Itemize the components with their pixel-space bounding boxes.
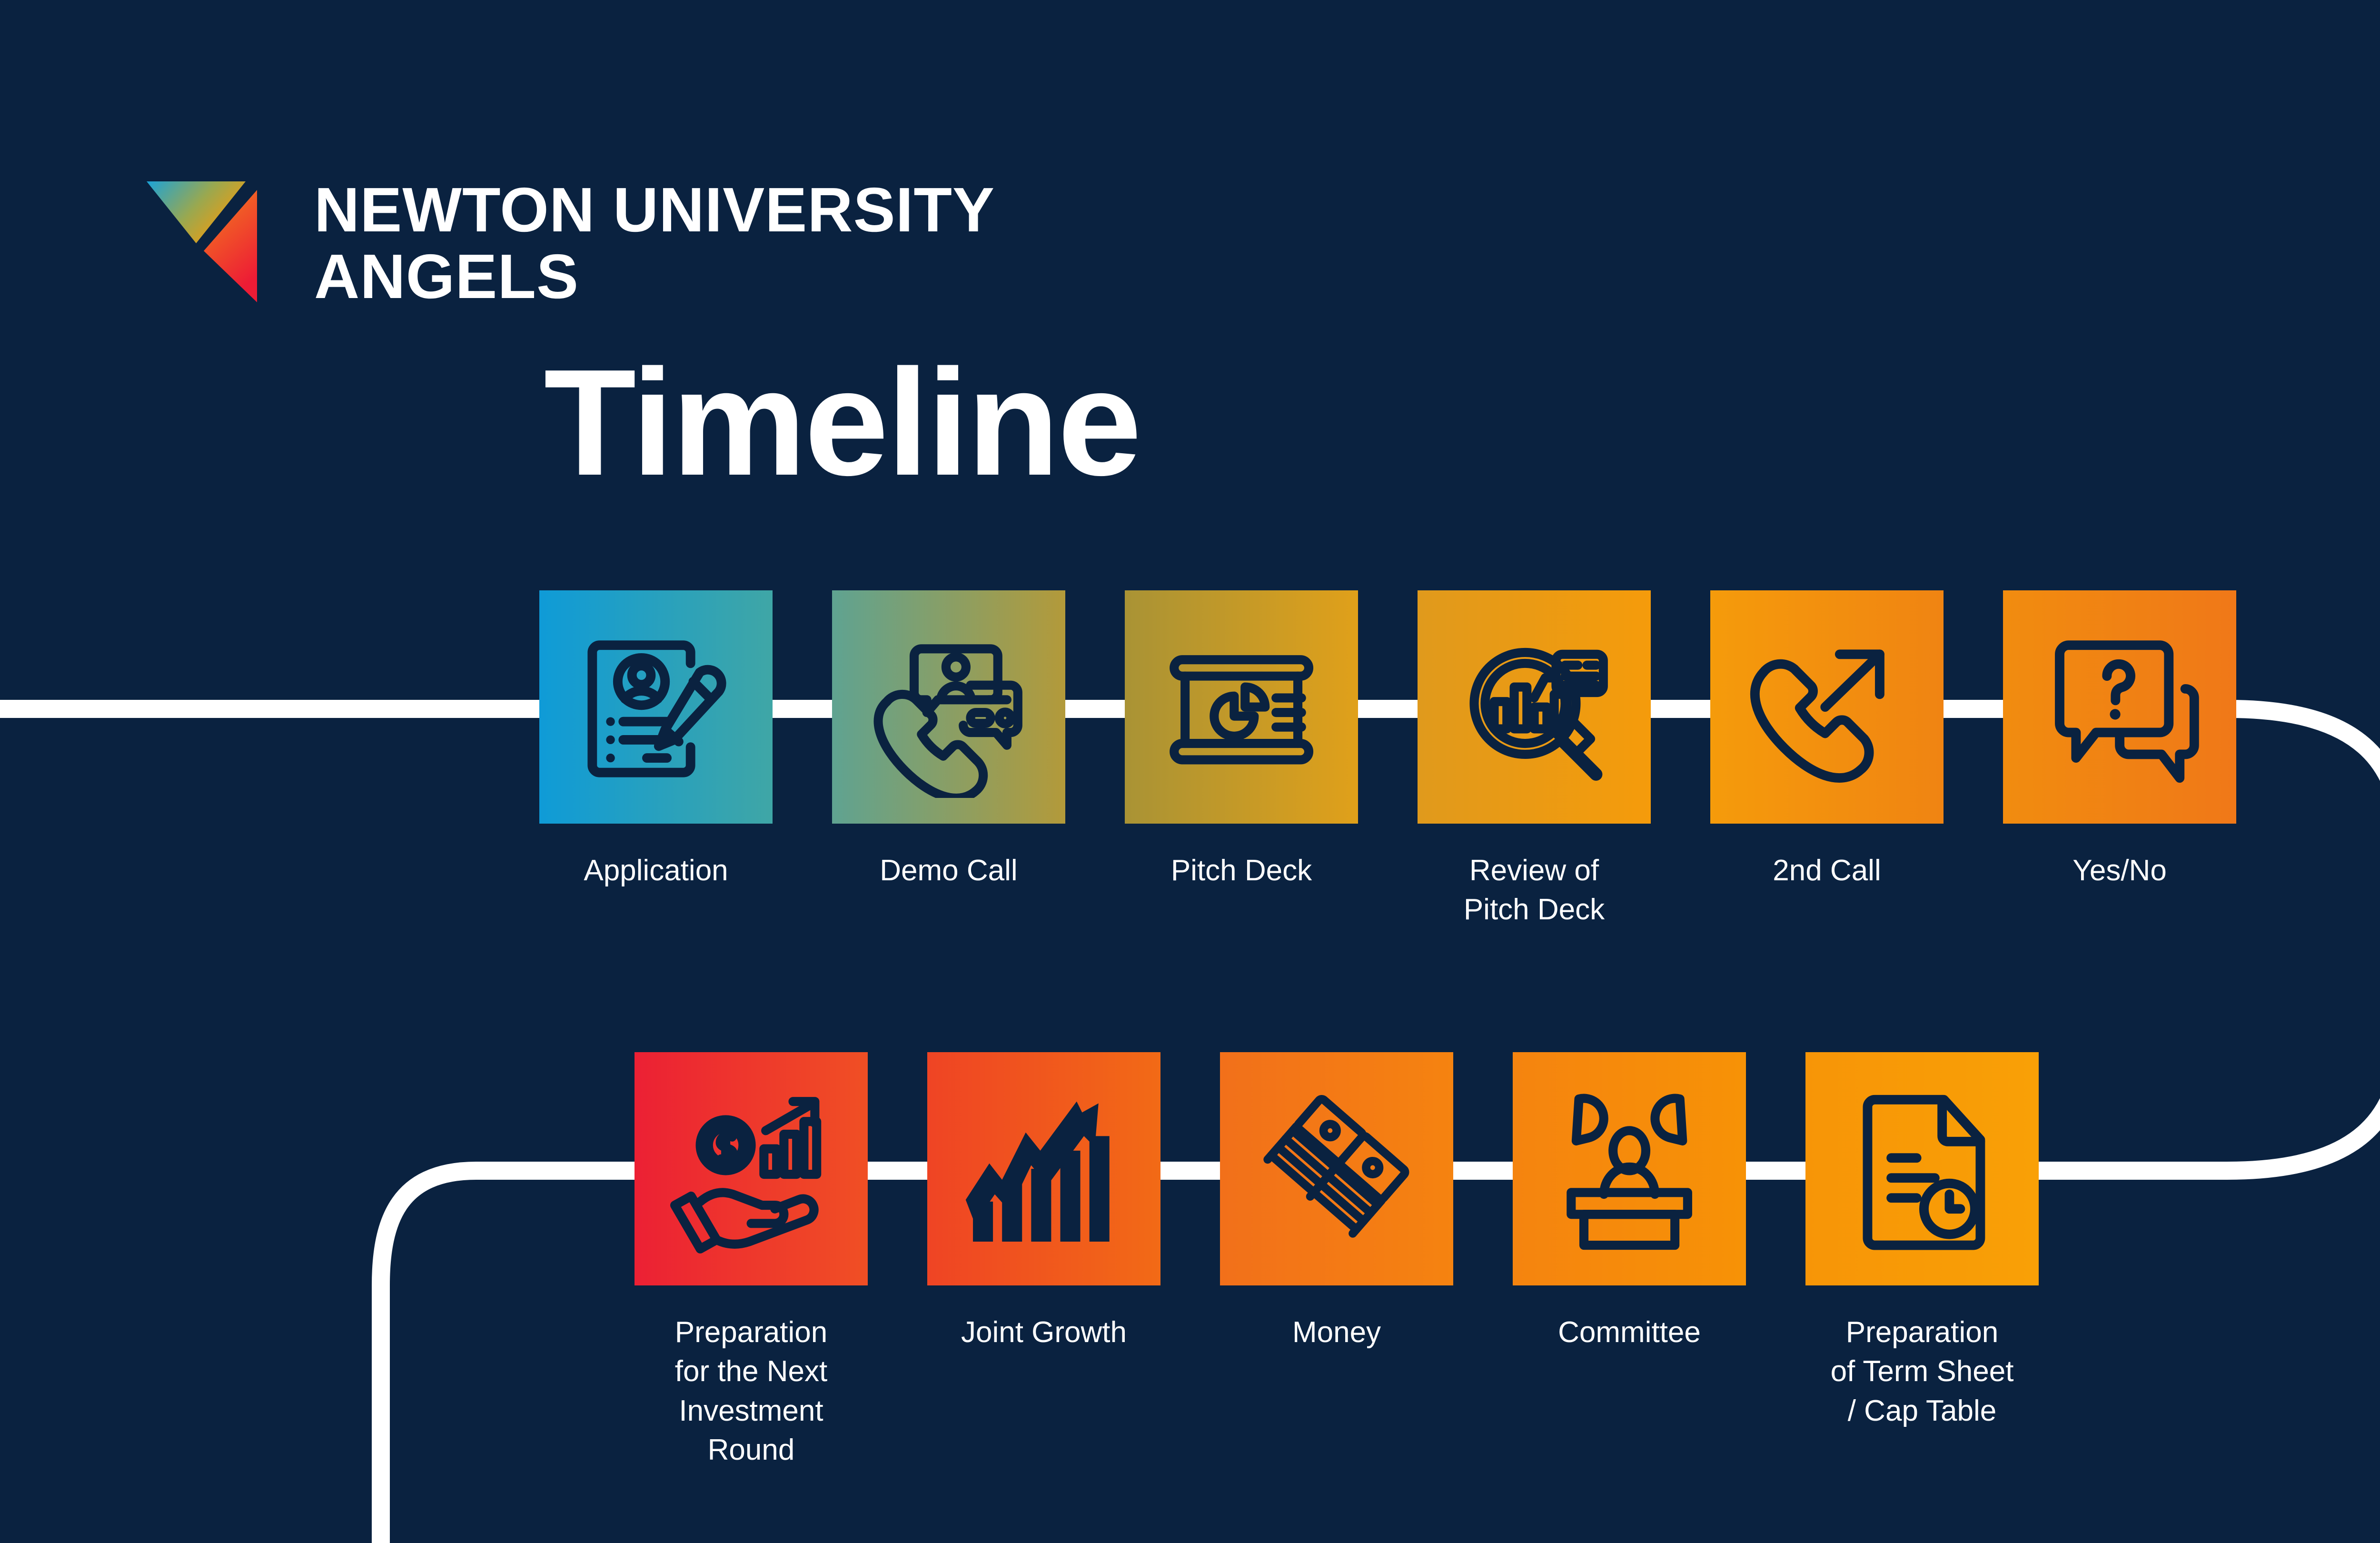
speech-bubbles-question-icon	[2029, 616, 2211, 798]
timeline-step-committee[interactable]: Committee	[1513, 1052, 1746, 1352]
step-label: Demo Call	[880, 851, 1017, 890]
timeline-step-preparation-term-sheet[interactable]: Preparation of Term Sheet / Cap Table	[1805, 1052, 2039, 1431]
document-user-pencil-icon	[565, 616, 747, 798]
step-tile[interactable]	[927, 1052, 1160, 1285]
presentation-board-pie-icon	[1150, 616, 1332, 798]
phone-outgoing-arrow-icon	[1736, 616, 1918, 798]
timeline-step-preparation-next-investment-round[interactable]: Preparation for the Next Investment Roun…	[635, 1052, 868, 1470]
timeline-step-yes-no[interactable]: Yes/No	[2003, 590, 2236, 890]
step-label: Pitch Deck	[1171, 851, 1312, 890]
step-tile[interactable]	[1418, 590, 1651, 824]
hand-coin-growth-icon	[660, 1078, 842, 1260]
timeline-step-2nd-call[interactable]: 2nd Call	[1710, 590, 1944, 890]
step-label: Preparation of Term Sheet / Cap Table	[1831, 1313, 2014, 1431]
timeline-step-application[interactable]: Application	[539, 590, 773, 890]
podium-speaker-icon	[1538, 1078, 1720, 1260]
step-tile[interactable]	[635, 1052, 868, 1285]
timeline-step-pitch-deck[interactable]: Pitch Deck	[1125, 590, 1358, 890]
step-tile[interactable]	[1220, 1052, 1453, 1285]
timeline-row-1: Application Demo Call	[539, 590, 2236, 930]
step-tile[interactable]	[1710, 590, 1944, 824]
brand-logo: NEWTON UNIVERSITY ANGELS	[143, 164, 995, 310]
timeline-row-2: Preparation for the Next Investment Roun…	[635, 1052, 2039, 1470]
step-label: Yes/No	[2073, 851, 2167, 890]
step-tile[interactable]	[1513, 1052, 1746, 1285]
brand-name: NEWTON UNIVERSITY ANGELS	[314, 164, 995, 310]
step-label: Money	[1292, 1313, 1381, 1352]
timeline-step-money[interactable]: Money	[1220, 1052, 1453, 1352]
timeline-step-demo-call[interactable]: Demo Call	[832, 590, 1065, 890]
angel-triangles-logo-icon	[143, 164, 271, 302]
step-label: Review of Pitch Deck	[1464, 851, 1605, 930]
magnifier-bar-chart-icon	[1443, 616, 1625, 798]
timeline-step-review-of-pitch-deck[interactable]: Review of Pitch Deck	[1418, 590, 1651, 930]
step-tile[interactable]	[832, 590, 1065, 824]
term-sheet-clock-icon	[1831, 1078, 2013, 1260]
step-tile[interactable]	[2003, 590, 2236, 824]
banknote-stack-icon	[1246, 1078, 1428, 1260]
step-label: Application	[584, 851, 728, 890]
page-title: Timeline	[0, 336, 2213, 509]
timeline-step-joint-growth[interactable]: Joint Growth	[927, 1052, 1160, 1352]
phone-video-chat-icon	[858, 616, 1040, 798]
bar-chart-arrow-up-icon	[953, 1078, 1135, 1260]
step-tile[interactable]	[539, 590, 773, 824]
step-label: Preparation for the Next Investment Roun…	[635, 1313, 868, 1470]
step-label: 2nd Call	[1773, 851, 1881, 890]
step-tile[interactable]	[1125, 590, 1358, 824]
step-label: Committee	[1558, 1313, 1701, 1352]
step-label: Joint Growth	[961, 1313, 1127, 1352]
step-tile[interactable]	[1805, 1052, 2039, 1285]
